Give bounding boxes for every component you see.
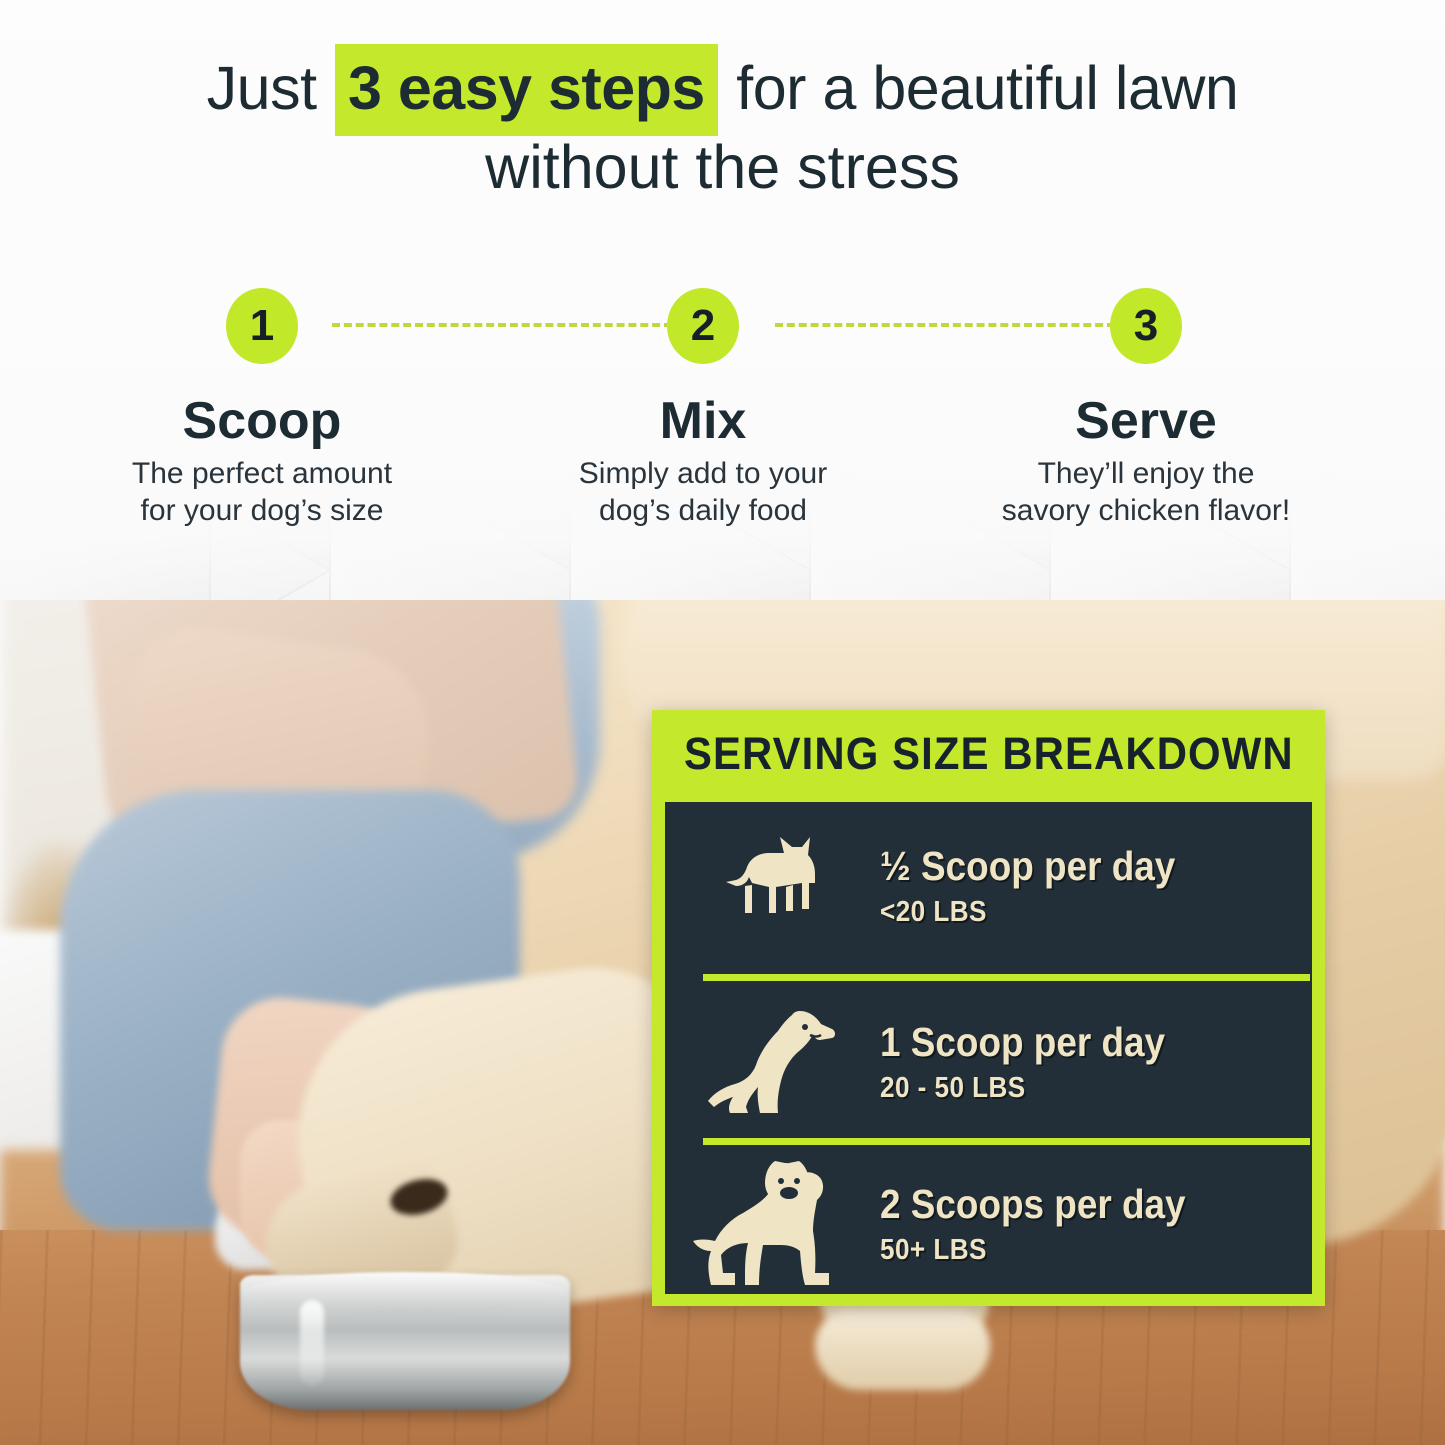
serving-panel-body: ½ Scoop per day <20 LBS 1 Scoop per day … [665, 802, 1312, 1294]
step-connector-1 [332, 323, 672, 327]
headline-suffix: for a beautiful lawn [720, 54, 1238, 122]
serving-panel-header: SERVING SIZE BREAKDOWN [652, 710, 1325, 798]
step-title-2: Mix [503, 391, 903, 451]
serving-row-large-amount: 2 Scoops per day [880, 1183, 1269, 1226]
large-dog-icon-svg [689, 1155, 857, 1295]
step-number-3: 3 [1110, 288, 1182, 364]
step-desc-3-line-1: They’ll enjoy the [946, 455, 1346, 492]
headline-prefix: Just [207, 54, 333, 122]
step-number-2: 2 [667, 288, 739, 364]
step-desc-2-line-1: Simply add to your [503, 455, 903, 492]
step-title-3: Serve [946, 391, 1346, 451]
step-desc-2-line-2: dog’s daily food [503, 492, 903, 529]
bowl-highlight [300, 1300, 324, 1386]
bowl-rim [243, 1272, 567, 1314]
serving-row-medium: 1 Scoop per day 20 - 50 LBS [665, 988, 1312, 1138]
serving-row-large: 2 Scoops per day 50+ LBS [665, 1150, 1312, 1300]
small-dog-icon [665, 833, 880, 941]
small-dog-icon-svg [714, 833, 832, 941]
serving-row-medium-amount: 1 Scoop per day [880, 1021, 1269, 1064]
serving-row-medium-text: 1 Scoop per day 20 - 50 LBS [880, 1021, 1312, 1105]
step-number-1-label: 1 [250, 301, 274, 351]
headline-line-1: Just 3 easy steps for a beautiful lawn [0, 58, 1445, 119]
serving-divider-2 [703, 1138, 1310, 1145]
serving-row-small-weight: <20 LBS [880, 896, 1269, 929]
serving-row-medium-weight: 20 - 50 LBS [880, 1072, 1269, 1105]
serving-row-large-text: 2 Scoops per day 50+ LBS [880, 1183, 1312, 1267]
serving-row-small: ½ Scoop per day <20 LBS [665, 812, 1312, 962]
step-connector-2 [775, 323, 1115, 327]
step-desc-1-line-1: The perfect amount [62, 455, 462, 492]
step-number-1: 1 [226, 288, 298, 364]
headline: Just 3 easy steps for a beautiful lawn w… [0, 58, 1445, 198]
step-desc-1-line-2: for your dog’s size [62, 492, 462, 529]
serving-row-small-amount: ½ Scoop per day [880, 845, 1269, 888]
medium-dog-icon [665, 999, 880, 1127]
step-number-3-label: 3 [1134, 301, 1158, 351]
product-infographic: Just 3 easy steps for a beautiful lawn w… [0, 0, 1445, 1445]
step-desc-3-line-2: savory chicken flavor! [946, 492, 1346, 529]
headline-highlight: 3 easy steps [335, 44, 718, 136]
serving-panel-title: SERVING SIZE BREAKDOWN [684, 728, 1294, 780]
serving-divider-1 [703, 974, 1310, 981]
dog-paw [815, 1310, 990, 1390]
serving-row-small-text: ½ Scoop per day <20 LBS [880, 845, 1312, 929]
serving-row-large-weight: 50+ LBS [880, 1234, 1269, 1267]
steps-row: 1 2 3 Scoop Mix Serve The perfect amount… [0, 288, 1445, 528]
medium-dog-icon-svg [704, 999, 842, 1127]
step-title-1: Scoop [62, 391, 462, 451]
large-dog-icon [665, 1155, 880, 1295]
step-number-2-label: 2 [691, 301, 715, 351]
serving-size-breakdown-panel: SERVING SIZE BREAKDOWN ½ Scoop per day <… [652, 710, 1325, 1306]
headline-line-2: without the stress [0, 137, 1445, 198]
